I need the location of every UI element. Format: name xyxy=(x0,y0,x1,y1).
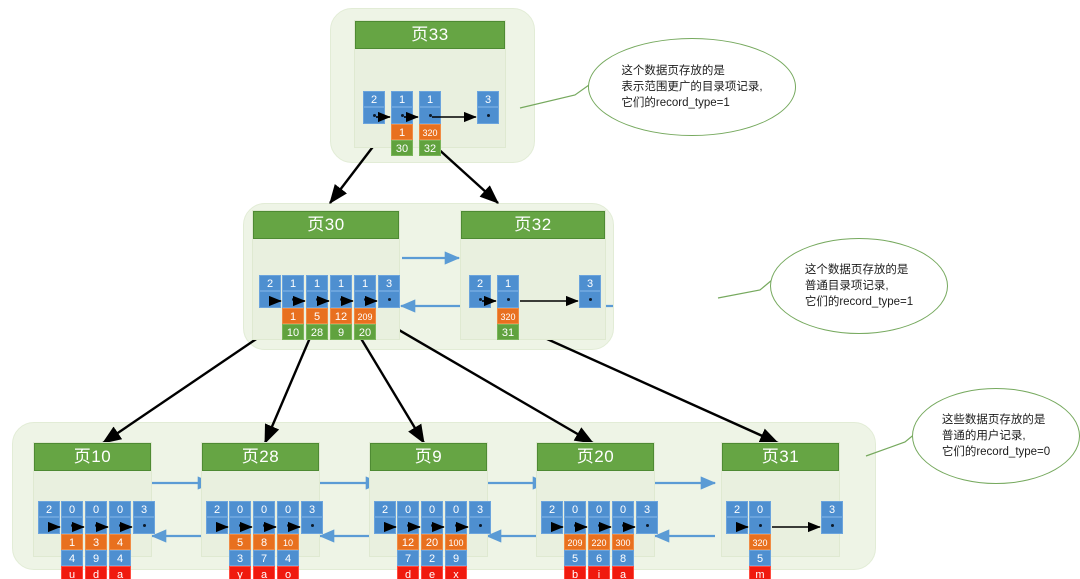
record-type-cell: 1 xyxy=(391,91,413,107)
record-page10-infimum[interactable]: 2 xyxy=(38,501,60,534)
callout-internal-line3: 它们的record_type=1 xyxy=(805,294,913,310)
record-type-cell: 0 xyxy=(588,501,610,517)
key-cell: 1 xyxy=(391,124,413,140)
record-type-cell: 0 xyxy=(397,501,419,517)
record-type-cell: 2 xyxy=(206,501,228,517)
record-page32-rec1[interactable]: 1 320 31 xyxy=(497,275,519,340)
record-page10-rec2[interactable]: 0 3 9 d xyxy=(85,501,107,579)
next-pointer-cell xyxy=(133,517,155,534)
record-page9-supremum[interactable]: 3 xyxy=(469,501,491,534)
next-pointer-cell xyxy=(497,291,519,308)
page-body-page9: 2 0 12 7 d 0 20 2 e 0 100 9 xyxy=(370,471,487,556)
page-number-cell: 32 xyxy=(419,140,441,156)
callout-root-line3: 它们的record_type=1 xyxy=(621,95,762,111)
record-type-cell: 2 xyxy=(374,501,396,517)
next-pointer-cell xyxy=(301,517,323,534)
key-cell: 320 xyxy=(749,534,771,550)
record-type-cell: 1 xyxy=(306,275,328,291)
extra-value-cell: d xyxy=(397,566,419,579)
record-type-cell: 2 xyxy=(259,275,281,291)
record-type-cell: 1 xyxy=(282,275,304,291)
callout-root: 这个数据页存放的是 表示范围更广的目录项记录, 它们的record_type=1 xyxy=(588,38,796,136)
page-title-page33: 页33 xyxy=(355,21,505,49)
page-number-cell: 20 xyxy=(354,324,376,340)
page-body-page28: 2 0 5 3 y 0 8 7 a 0 10 4 o xyxy=(202,471,319,556)
record-type-cell: 2 xyxy=(726,501,748,517)
extra-value-cell: o xyxy=(277,566,299,579)
record-page30-rec1[interactable]: 1 1 10 xyxy=(282,275,304,340)
record-page30-rec2[interactable]: 1 5 28 xyxy=(306,275,328,340)
record-page28-rec3[interactable]: 0 10 4 o xyxy=(277,501,299,579)
record-type-cell: 0 xyxy=(749,501,771,517)
extra-value-cell: a xyxy=(253,566,275,579)
next-pointer-cell xyxy=(306,291,328,308)
page-number-cell: 28 xyxy=(306,324,328,340)
next-pointer-cell xyxy=(391,107,413,124)
extra-value-cell: x xyxy=(445,566,467,579)
key-cell: 3 xyxy=(85,534,107,550)
extra-value-cell: d xyxy=(85,566,107,579)
record-page30-supremum[interactable]: 3 xyxy=(378,275,400,308)
record-type-cell: 0 xyxy=(85,501,107,517)
record-page20-rec2[interactable]: 0 220 6 i xyxy=(588,501,610,579)
extra-value-cell: y xyxy=(229,566,251,579)
key-cell: 220 xyxy=(588,534,610,550)
record-page20-rec3[interactable]: 0 300 8 a xyxy=(612,501,634,579)
record-type-cell: 0 xyxy=(61,501,83,517)
record-page30-infimum[interactable]: 2 xyxy=(259,275,281,308)
record-type-cell: 2 xyxy=(363,91,385,107)
page-node-page31[interactable]: 页31 2 0 320 5 m 3 xyxy=(721,442,840,557)
column-value-cell: 9 xyxy=(445,550,467,566)
callout-leaf: 这些数据页存放的是 普通的用户记录, 它们的record_type=0 xyxy=(912,388,1080,484)
record-page32-infimum[interactable]: 2 xyxy=(469,275,491,308)
record-type-cell: 3 xyxy=(636,501,658,517)
callout-leaf-line3: 它们的record_type=0 xyxy=(942,444,1050,460)
column-value-cell: 7 xyxy=(253,550,275,566)
record-page28-rec1[interactable]: 0 5 3 y xyxy=(229,501,251,579)
record-page30-rec4[interactable]: 1 209 20 xyxy=(354,275,376,340)
column-value-cell: 9 xyxy=(85,550,107,566)
page-number-cell: 30 xyxy=(391,140,413,156)
record-page20-rec1[interactable]: 0 209 5 b xyxy=(564,501,586,579)
record-page32-supremum[interactable]: 3 xyxy=(579,275,601,308)
record-type-cell: 2 xyxy=(469,275,491,291)
key-cell: 1 xyxy=(61,534,83,550)
next-pointer-cell xyxy=(749,517,771,534)
record-type-cell: 2 xyxy=(541,501,563,517)
page-body-page10: 2 0 1 4 u 0 3 9 d 0 4 4 a xyxy=(34,471,151,556)
key-cell: 209 xyxy=(564,534,586,550)
column-value-cell: 4 xyxy=(109,550,131,566)
next-pointer-cell xyxy=(61,517,83,534)
record-type-cell: 3 xyxy=(378,275,400,291)
record-page20-supremum[interactable]: 3 xyxy=(636,501,658,534)
key-cell: 209 xyxy=(354,308,376,324)
next-pointer-cell xyxy=(726,517,748,534)
column-value-cell: 2 xyxy=(421,550,443,566)
next-pointer-cell xyxy=(206,517,228,534)
next-pointer-cell xyxy=(378,291,400,308)
page-number-cell: 10 xyxy=(282,324,304,340)
record-type-cell: 3 xyxy=(301,501,323,517)
key-cell: 320 xyxy=(497,308,519,324)
next-pointer-cell xyxy=(229,517,251,534)
key-cell: 5 xyxy=(306,308,328,324)
bplus-tree-diagram: 页33 2 1 1 30 1 320 32 3 xyxy=(0,0,1080,579)
next-pointer-cell xyxy=(419,107,441,124)
page-node-page32[interactable]: 页32 2 1 320 31 3 xyxy=(460,210,606,340)
page-node-page20[interactable]: 页20 2 0 209 5 b 0 220 6 i 0 xyxy=(536,442,655,557)
column-value-cell: 4 xyxy=(61,550,83,566)
record-page28-infimum[interactable]: 2 xyxy=(206,501,228,534)
page-node-page30[interactable]: 页30 2 1 1 10 1 5 28 1 12 9 xyxy=(252,210,400,340)
next-pointer-cell xyxy=(541,517,563,534)
callout-internal: 这个数据页存放的是 普通目录项记录, 它们的record_type=1 xyxy=(770,238,948,334)
page-title-page9: 页9 xyxy=(370,443,487,471)
record-page31-infimum[interactable]: 2 xyxy=(726,501,748,534)
next-pointer-cell xyxy=(253,517,275,534)
next-pointer-cell xyxy=(277,517,299,534)
extra-value-cell: a xyxy=(109,566,131,579)
next-pointer-cell xyxy=(588,517,610,534)
next-pointer-cell xyxy=(469,517,491,534)
page-number-cell: 31 xyxy=(497,324,519,340)
page-body-page30: 2 1 1 10 1 5 28 1 12 9 1 xyxy=(253,239,399,339)
record-type-cell: 2 xyxy=(38,501,60,517)
page-title-page28: 页28 xyxy=(202,443,319,471)
record-page10-supremum[interactable]: 3 xyxy=(133,501,155,534)
page-title-page32: 页32 xyxy=(461,211,605,239)
page-node-page28[interactable]: 页28 2 0 5 3 y 0 8 7 a 0 xyxy=(201,442,320,557)
record-page9-rec2[interactable]: 0 20 2 e xyxy=(421,501,443,579)
next-pointer-cell xyxy=(445,517,467,534)
next-pointer-cell xyxy=(85,517,107,534)
record-type-cell: 3 xyxy=(821,501,843,517)
next-pointer-cell xyxy=(612,517,634,534)
extra-value-cell: m xyxy=(749,566,771,579)
record-type-cell: 0 xyxy=(229,501,251,517)
page-title-page31: 页31 xyxy=(722,443,839,471)
record-page9-rec3[interactable]: 0 100 9 x xyxy=(445,501,467,579)
key-cell: 320 xyxy=(419,124,441,140)
record-page10-rec3[interactable]: 0 4 4 a xyxy=(109,501,131,579)
record-type-cell: 3 xyxy=(133,501,155,517)
key-cell: 8 xyxy=(253,534,275,550)
key-cell: 10 xyxy=(277,534,299,550)
record-type-cell: 0 xyxy=(564,501,586,517)
record-page9-rec1[interactable]: 0 12 7 d xyxy=(397,501,419,579)
record-type-cell: 3 xyxy=(469,501,491,517)
column-value-cell: 5 xyxy=(749,550,771,566)
callout-root-line1: 这个数据页存放的是 xyxy=(621,63,762,79)
page-node-page10[interactable]: 页10 2 0 1 4 u 0 3 9 d 0 xyxy=(33,442,152,557)
next-pointer-cell xyxy=(354,291,376,308)
record-type-cell: 0 xyxy=(253,501,275,517)
column-value-cell: 6 xyxy=(588,550,610,566)
record-type-cell: 3 xyxy=(477,91,499,107)
record-type-cell: 0 xyxy=(612,501,634,517)
key-cell: 300 xyxy=(612,534,634,550)
key-cell: 100 xyxy=(445,534,467,550)
page-node-page9[interactable]: 页9 2 0 12 7 d 0 20 2 e 0 xyxy=(369,442,488,557)
record-type-cell: 0 xyxy=(109,501,131,517)
extra-value-cell: u xyxy=(61,566,83,579)
record-page9-infimum[interactable]: 2 xyxy=(374,501,396,534)
page-body-page32: 2 1 320 31 3 xyxy=(461,239,605,339)
page-body-page33: 2 1 1 30 1 320 32 3 xyxy=(355,49,505,147)
record-page31-rec1[interactable]: 0 320 5 m xyxy=(749,501,771,579)
next-pointer-cell xyxy=(259,291,281,308)
extra-value-cell: e xyxy=(421,566,443,579)
extra-value-cell: a xyxy=(612,566,634,579)
next-pointer-cell xyxy=(330,291,352,308)
record-page31-supremum[interactable]: 3 xyxy=(821,501,843,534)
next-pointer-cell xyxy=(636,517,658,534)
page-title-page20: 页20 xyxy=(537,443,654,471)
key-cell: 20 xyxy=(421,534,443,550)
record-page30-rec3[interactable]: 1 12 9 xyxy=(330,275,352,340)
record-type-cell: 0 xyxy=(421,501,443,517)
key-cell: 1 xyxy=(282,308,304,324)
next-pointer-cell xyxy=(282,291,304,308)
record-page20-infimum[interactable]: 2 xyxy=(541,501,563,534)
record-type-cell: 1 xyxy=(330,275,352,291)
next-pointer-cell xyxy=(469,291,491,308)
record-type-cell: 0 xyxy=(277,501,299,517)
record-page28-supremum[interactable]: 3 xyxy=(301,501,323,534)
extra-value-cell: b xyxy=(564,566,586,579)
next-pointer-cell xyxy=(109,517,131,534)
next-pointer-cell xyxy=(38,517,60,534)
callout-leaf-line2: 普通的用户记录, xyxy=(942,428,1050,444)
page-title-page30: 页30 xyxy=(253,211,399,239)
next-pointer-cell xyxy=(564,517,586,534)
record-page28-rec2[interactable]: 0 8 7 a xyxy=(253,501,275,579)
record-type-cell: 1 xyxy=(354,275,376,291)
column-value-cell: 8 xyxy=(612,550,634,566)
record-type-cell: 1 xyxy=(497,275,519,291)
key-cell: 4 xyxy=(109,534,131,550)
next-pointer-cell xyxy=(421,517,443,534)
record-page33-supremum[interactable]: 3 xyxy=(477,91,499,124)
callout-leaf-line1: 这些数据页存放的是 xyxy=(942,412,1050,428)
callout-internal-line2: 普通目录项记录, xyxy=(805,278,913,294)
record-page33-infimum[interactable]: 2 xyxy=(363,91,385,124)
key-cell: 12 xyxy=(330,308,352,324)
key-cell: 12 xyxy=(397,534,419,550)
record-page33-rec1[interactable]: 1 1 30 xyxy=(391,91,413,156)
next-pointer-cell xyxy=(477,107,499,124)
next-pointer-cell xyxy=(374,517,396,534)
key-cell: 5 xyxy=(229,534,251,550)
callout-root-line2: 表示范围更广的目录项记录, xyxy=(621,79,762,95)
column-value-cell: 7 xyxy=(397,550,419,566)
page-node-page33[interactable]: 页33 2 1 1 30 1 320 32 3 xyxy=(354,20,506,148)
record-page33-rec2[interactable]: 1 320 32 xyxy=(419,91,441,156)
extra-value-cell: i xyxy=(588,566,610,579)
column-value-cell: 3 xyxy=(229,550,251,566)
record-type-cell: 1 xyxy=(419,91,441,107)
next-pointer-cell xyxy=(397,517,419,534)
record-type-cell: 3 xyxy=(579,275,601,291)
next-pointer-cell xyxy=(363,107,385,124)
page-body-page31: 2 0 320 5 m 3 xyxy=(722,471,839,556)
column-value-cell: 4 xyxy=(277,550,299,566)
next-pointer-cell xyxy=(579,291,601,308)
record-type-cell: 0 xyxy=(445,501,467,517)
page-number-cell: 9 xyxy=(330,324,352,340)
next-pointer-cell xyxy=(821,517,843,534)
column-value-cell: 5 xyxy=(564,550,586,566)
callout-internal-line1: 这个数据页存放的是 xyxy=(805,262,913,278)
page-body-page20: 2 0 209 5 b 0 220 6 i 0 300 8 xyxy=(537,471,654,556)
page-title-page10: 页10 xyxy=(34,443,151,471)
record-page10-rec1[interactable]: 0 1 4 u xyxy=(61,501,83,579)
